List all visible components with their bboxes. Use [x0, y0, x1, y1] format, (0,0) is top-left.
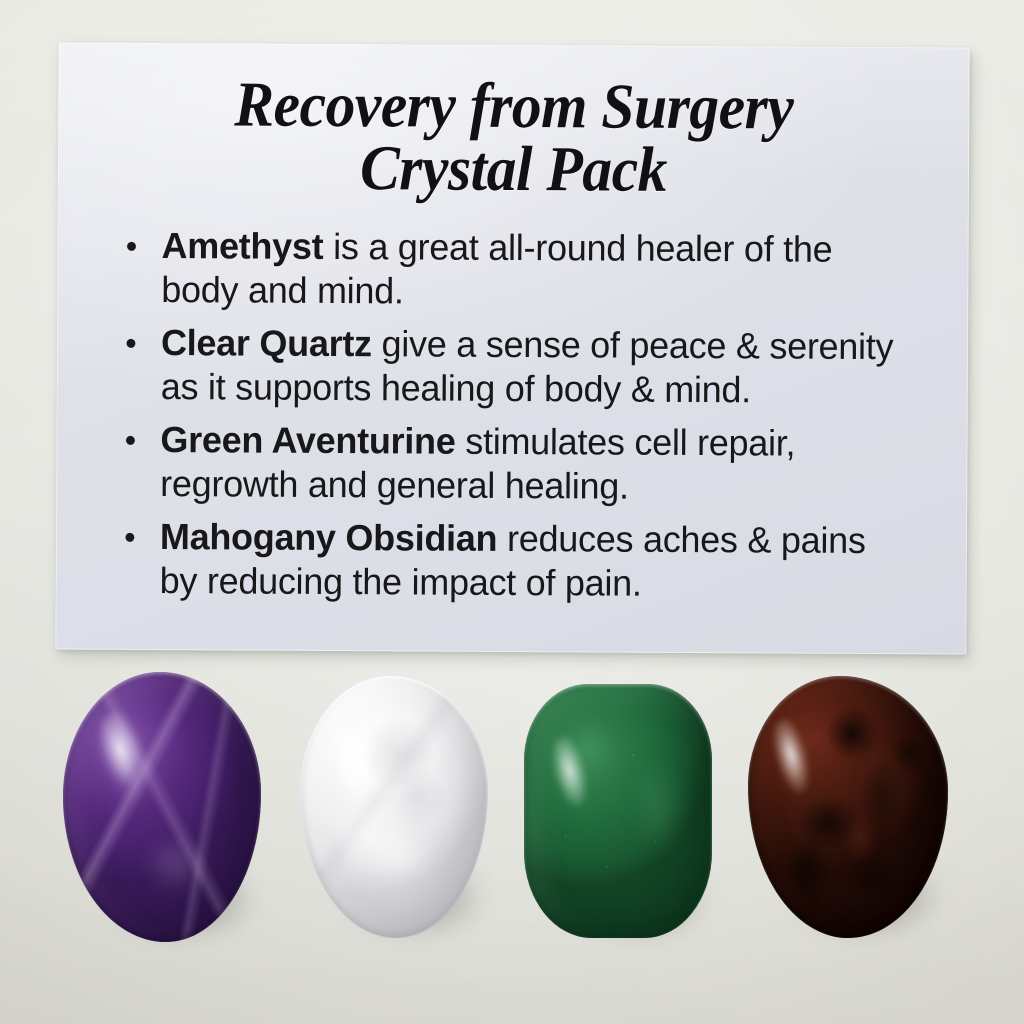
stone-amethyst-body [63, 672, 261, 942]
stone-green-aventurine-body [524, 684, 712, 938]
list-item: Amethyst is a great all-round healer of … [161, 224, 899, 316]
product-photo-scene: Recovery from Surgery Crystal Pack Ameth… [0, 0, 1024, 1024]
info-card-surface: Recovery from Surgery Crystal Pack Ameth… [55, 42, 969, 654]
stone-mahogany-obsidian-veins [748, 676, 948, 938]
list-item: Mahogany Obsidian reduces aches & pains … [160, 515, 898, 607]
crystal-name: Mahogany Obsidian [160, 516, 498, 559]
stone-mahogany-obsidian-highlight [763, 715, 829, 827]
stone-green-aventurine [524, 684, 712, 938]
list-item: Green Aventurine stimulates cell repair,… [160, 418, 898, 510]
crystal-name: Clear Quartz [161, 322, 372, 364]
stone-mahogany-obsidian-body [748, 676, 948, 938]
info-card: Recovery from Surgery Crystal Pack Ameth… [55, 42, 969, 654]
page-title-line-2: Crystal Pack [142, 136, 885, 203]
stone-amethyst-soft-highlight [130, 823, 221, 904]
page-title-line-1: Recovery from Surgery [142, 73, 885, 140]
stone-mahogany-obsidian [748, 676, 948, 938]
stone-green-aventurine-veins [524, 684, 712, 938]
crystal-list: Amethyst is a great all-round healer of … [102, 224, 923, 608]
crystal-name: Amethyst [161, 225, 323, 267]
info-card-content: Recovery from Surgery Crystal Pack Ameth… [55, 42, 969, 654]
crystal-name: Green Aventurine [160, 419, 455, 462]
stone-clear-quartz [300, 676, 488, 938]
stone-amethyst-highlight [86, 705, 170, 829]
stone-amethyst-veins [63, 672, 261, 942]
stone-mahogany-obsidian-soft-highlight [852, 723, 924, 859]
stone-green-aventurine-soft-highlight [626, 735, 690, 877]
stone-clear-quartz-highlight [321, 719, 392, 827]
list-item: Clear Quartz give a sense of peace & ser… [161, 321, 899, 413]
stone-amethyst [63, 672, 261, 942]
stone-clear-quartz-veins [300, 676, 488, 938]
stone-clear-quartz-soft-highlight [356, 812, 442, 896]
stone-green-aventurine-highlight [543, 731, 605, 834]
stone-clear-quartz-body [300, 676, 488, 938]
page-title: Recovery from Surgery Crystal Pack [132, 73, 894, 203]
